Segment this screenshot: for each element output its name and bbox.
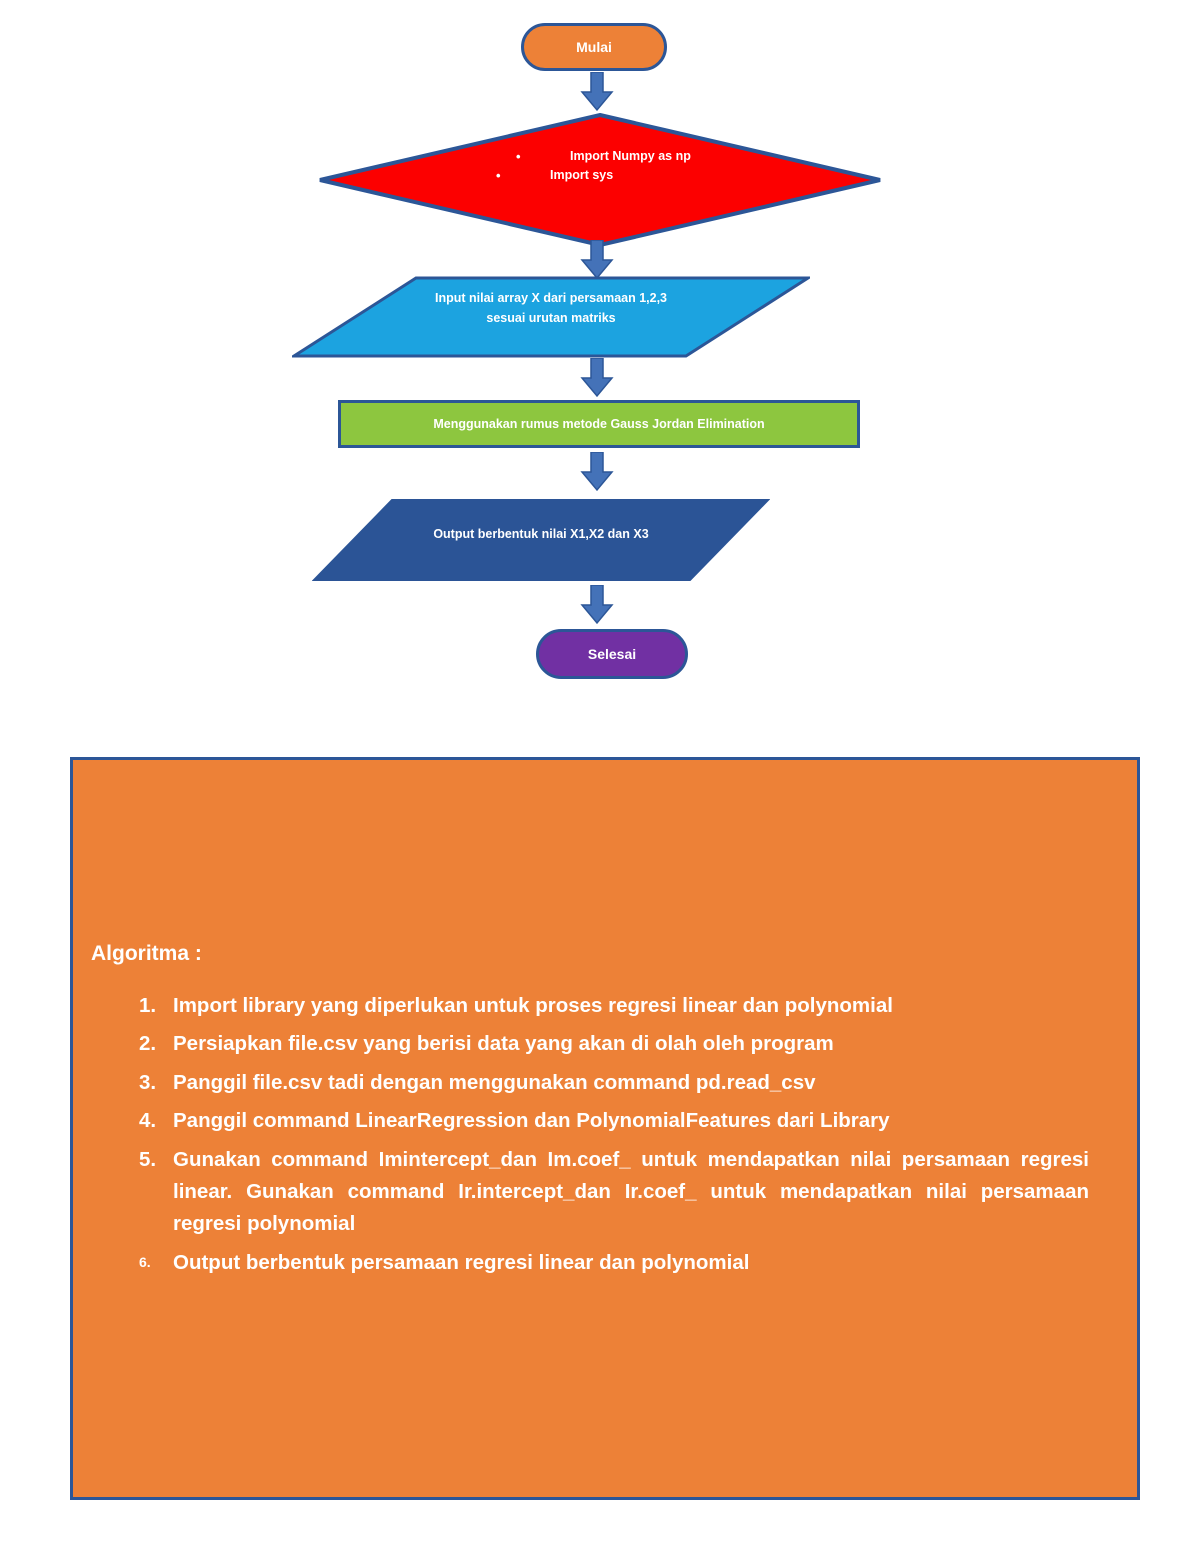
flow-node-end-label: Selesai [588,646,636,662]
flow-node-end[interactable]: Selesai [536,629,688,679]
list-item: Import sys [478,166,778,185]
input-line-1: Input nilai array X dari persamaan 1,2,3 [292,288,810,308]
flow-arrow-down-icon [580,585,614,625]
algorithm-step-list: 1. Import library yang diperlukan untuk … [121,990,1089,1285]
flow-node-output-text: Output berbentuk nilai X1,X2 dan X3 [312,524,770,544]
imports-bullet-list: Import Numpy as np Import sys [478,147,778,186]
step-text: Import library yang diperlukan untuk pro… [173,994,893,1017]
flow-node-start[interactable]: Mulai [521,23,667,71]
step-text: Panggil file.csv tadi dengan menggunakan… [173,1071,816,1094]
flow-arrow-down-icon [580,358,614,398]
step-text: Gunakan command Imintercept_dan Im.coef_… [173,1148,1089,1236]
flow-node-output[interactable]: Output berbentuk nilai X1,X2 dan X3 [312,498,770,582]
step-number: 2. [139,1028,167,1060]
algorithm-heading: Algoritma : [91,942,202,966]
flow-node-imports-text: Import Numpy as np Import sys [478,147,778,186]
list-item: 5. Gunakan command Imintercept_dan Im.co… [121,1144,1089,1241]
flowchart: Mulai Import Numpy as np Import sys Inpu… [0,0,1200,700]
step-text: Panggil command LinearRegression dan Pol… [173,1109,890,1132]
flow-node-input-text: Input nilai array X dari persamaan 1,2,3… [292,288,810,328]
list-item: 2. Persiapkan file.csv yang berisi data … [121,1028,1089,1060]
flow-arrow-down-icon [580,72,614,112]
step-number: 4. [139,1105,167,1137]
flow-node-process-label: Menggunakan rumus metode Gauss Jordan El… [433,417,764,431]
flow-node-start-label: Mulai [576,39,612,55]
list-item: 6. Output berbentuk persamaan regresi li… [121,1247,1089,1279]
list-item: 4. Panggil command LinearRegression dan … [121,1105,1089,1137]
list-item: Import Numpy as np [478,147,778,166]
step-number: 3. [139,1067,167,1099]
step-number: 1. [139,990,167,1022]
input-line-2: sesuai urutan matriks [292,308,810,328]
flow-arrow-down-icon [580,240,614,280]
step-number: 6. [139,1251,167,1273]
flow-arrow-down-icon [580,452,614,492]
flow-node-input[interactable]: Input nilai array X dari persamaan 1,2,3… [292,276,810,358]
list-item: 1. Import library yang diperlukan untuk … [121,990,1089,1022]
step-text: Persiapkan file.csv yang berisi data yan… [173,1032,834,1055]
flow-node-imports[interactable]: Import Numpy as np Import sys [318,113,882,247]
step-text: Output berbentuk persamaan regresi linea… [173,1251,749,1274]
list-item: 3. Panggil file.csv tadi dengan mengguna… [121,1067,1089,1099]
flow-node-process[interactable]: Menggunakan rumus metode Gauss Jordan El… [338,400,860,448]
step-number: 5. [139,1144,167,1176]
algorithm-panel: Algoritma : 1. Import library yang diper… [70,757,1140,1500]
